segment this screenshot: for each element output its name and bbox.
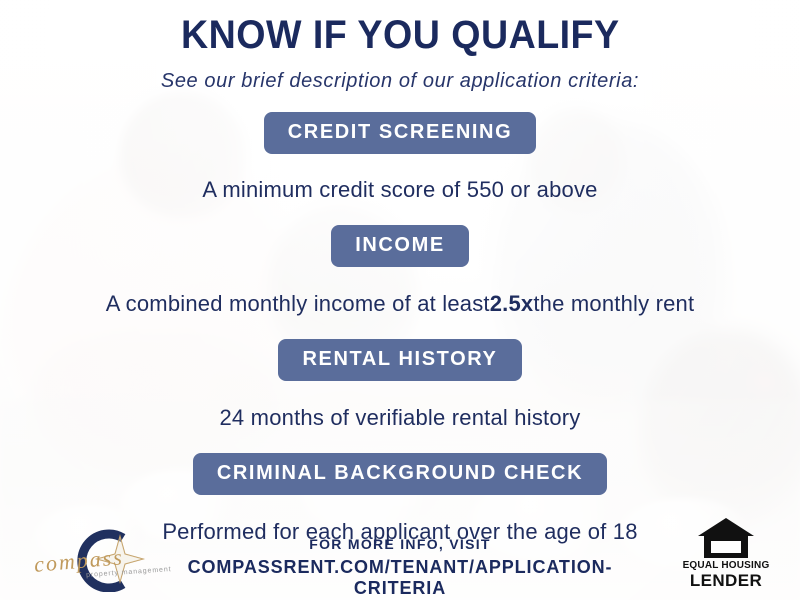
criterion-text-credit-screening: A minimum credit score of 550 or above	[202, 177, 597, 203]
criterion-text-income-part-1: A combined monthly income of at least	[106, 291, 490, 316]
criterion-badge-rental-history: RENTAL HISTORY	[278, 339, 521, 381]
criterion-text-income-emphasis: 2.5x	[490, 291, 534, 316]
footer-cta: FOR MORE INFO, VISIT COMPASSRENT.COM/TEN…	[188, 536, 613, 599]
criterion-badge-income-row: INCOME	[331, 225, 469, 267]
page-subtitle: See our brief description of our applica…	[161, 70, 639, 93]
criterion-text-income: A combined monthly income of at least2.5…	[106, 291, 695, 317]
compass-logo: compass property management	[30, 526, 180, 592]
criterion-badge-criminal-background-check-row: CRIMINAL BACKGROUND CHECK	[193, 453, 607, 495]
page-title: KNOW IF YOU QUALIFY	[181, 13, 620, 58]
criterion-text-income-part-3: the monthly rent	[533, 291, 694, 316]
equal-housing-line-2: LENDER	[678, 572, 774, 590]
qualification-criteria-poster: KNOW IF YOU QUALIFY See our brief descri…	[0, 0, 800, 600]
equal-housing-lender-badge: EQUAL HOUSING LENDER	[678, 516, 774, 590]
criterion-badge-credit-screening-row: CREDIT SCREENING	[264, 112, 537, 154]
criterion-badge-income: INCOME	[331, 225, 469, 267]
criterion-badge-rental-history-row: RENTAL HISTORY	[278, 339, 521, 381]
footer-url[interactable]: COMPASSRENT.COM/TENANT/APPLICATION-CRITE…	[188, 557, 613, 599]
poster-content: KNOW IF YOU QUALIFY See our brief descri…	[0, 0, 800, 600]
footer-cta-label: FOR MORE INFO, VISIT	[188, 536, 613, 552]
equal-housing-lender-icon	[695, 516, 757, 560]
criterion-text-rental-history: 24 months of verifiable rental history	[220, 405, 581, 431]
criterion-badge-credit-screening: CREDIT SCREENING	[264, 112, 537, 154]
footer: compass property management FOR MORE INF…	[0, 522, 800, 600]
criterion-badge-criminal-background-check: CRIMINAL BACKGROUND CHECK	[193, 453, 607, 495]
